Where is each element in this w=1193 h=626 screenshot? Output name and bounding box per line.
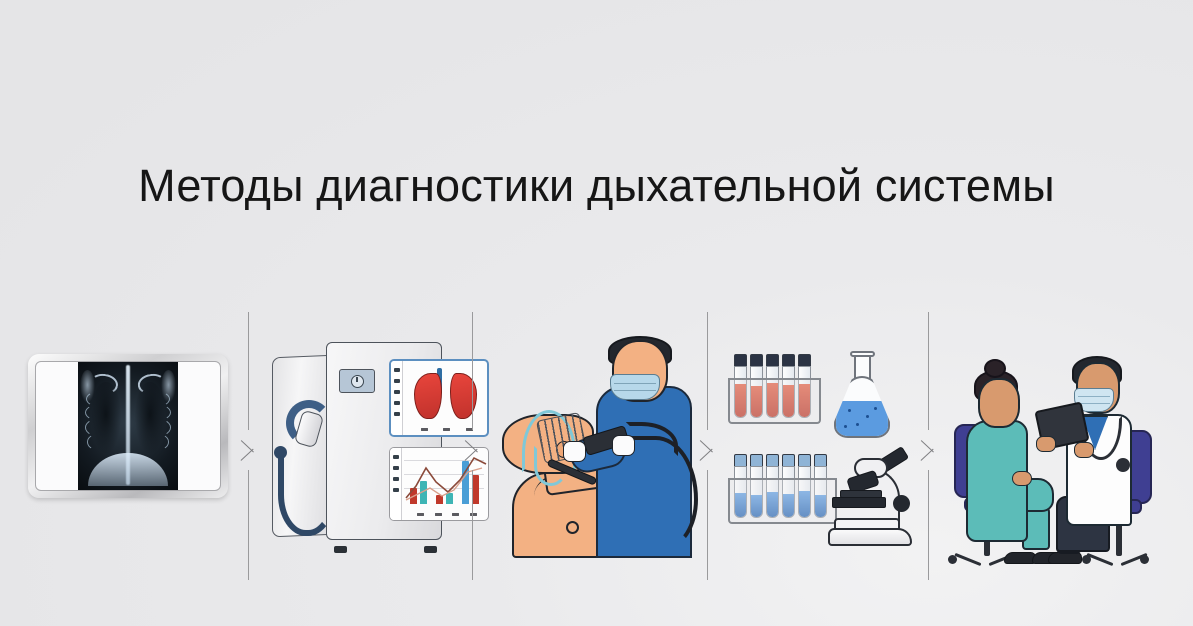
- stethoscope-bell: [1116, 458, 1130, 472]
- diaphragm: [88, 453, 167, 486]
- rib: [87, 432, 123, 451]
- step-bronchoscopy[interactable]: [500, 332, 696, 558]
- separator-line: [472, 312, 473, 430]
- patient-navel: [566, 521, 579, 534]
- step-separator-1: [238, 312, 260, 580]
- step-laboratory-analysis[interactable]: [730, 350, 916, 550]
- step-x-ray-imaging[interactable]: [28, 354, 228, 498]
- chevron-right-icon: [920, 430, 937, 470]
- machine-foot: [424, 546, 437, 553]
- separator-line: [707, 312, 708, 430]
- doctor-hand: [1036, 436, 1056, 452]
- erlenmeyer-flask: [834, 354, 890, 438]
- tube-rack-holder: [728, 380, 821, 424]
- diagnostic-steps-strip: [0, 300, 1193, 580]
- gloved-hand: [612, 435, 635, 456]
- screen-side-buttons[interactable]: [391, 361, 403, 435]
- flask-lip: [850, 351, 875, 357]
- rib: [133, 432, 169, 451]
- chevron-right-icon: [699, 430, 716, 470]
- chevron-right-icon: [464, 430, 481, 470]
- doctor-hand: [1074, 442, 1094, 458]
- machine-body: [326, 342, 442, 540]
- microscope: [826, 442, 914, 546]
- surgical-mask-icon: [610, 374, 660, 400]
- page-title: Методы диагностики дыхательной системы: [0, 158, 1193, 213]
- step-separator-3: [697, 312, 719, 580]
- microscope-stage: [832, 497, 886, 508]
- separator-line: [928, 470, 929, 580]
- lung-graphic-left: [414, 373, 442, 419]
- separator-line: [248, 470, 249, 580]
- step-separator-2: [462, 312, 484, 580]
- step-spirometry-device[interactable]: [272, 342, 444, 548]
- step-doctor-consultation[interactable]: [940, 332, 1148, 564]
- flask-liquid: [836, 401, 888, 436]
- step-separator-4: [918, 312, 940, 580]
- separator-line: [707, 470, 708, 580]
- flask-bowl: [834, 376, 890, 438]
- chair-caster: [948, 555, 957, 564]
- tube-rack-holder: [728, 480, 837, 524]
- chair-caster: [1082, 555, 1091, 564]
- chevron-right-icon: [240, 430, 257, 470]
- xray-viewer-frame: [28, 354, 228, 498]
- xray-lightbox: [35, 361, 221, 491]
- machine-cable: [278, 450, 336, 536]
- chest-xray-film: [78, 362, 177, 490]
- patient-shoe: [1004, 552, 1036, 564]
- focus-knob-icon[interactable]: [893, 495, 910, 512]
- patient-hand: [1012, 471, 1032, 486]
- patient-head: [978, 378, 1020, 428]
- patient-hair-bun: [984, 359, 1006, 378]
- separator-line: [248, 312, 249, 430]
- chair-caster: [1140, 555, 1149, 564]
- cable-connector: [274, 446, 287, 459]
- banner-root: Методы диагностики дыхательной системы: [0, 0, 1193, 626]
- control-panel[interactable]: [339, 369, 375, 393]
- power-knob-icon[interactable]: [351, 375, 364, 388]
- microscope-base: [828, 528, 912, 546]
- separator-line: [928, 312, 929, 430]
- screen-side-buttons[interactable]: [390, 448, 402, 520]
- separator-line: [472, 470, 473, 580]
- machine-foot: [334, 546, 347, 553]
- gloved-hand: [563, 441, 586, 462]
